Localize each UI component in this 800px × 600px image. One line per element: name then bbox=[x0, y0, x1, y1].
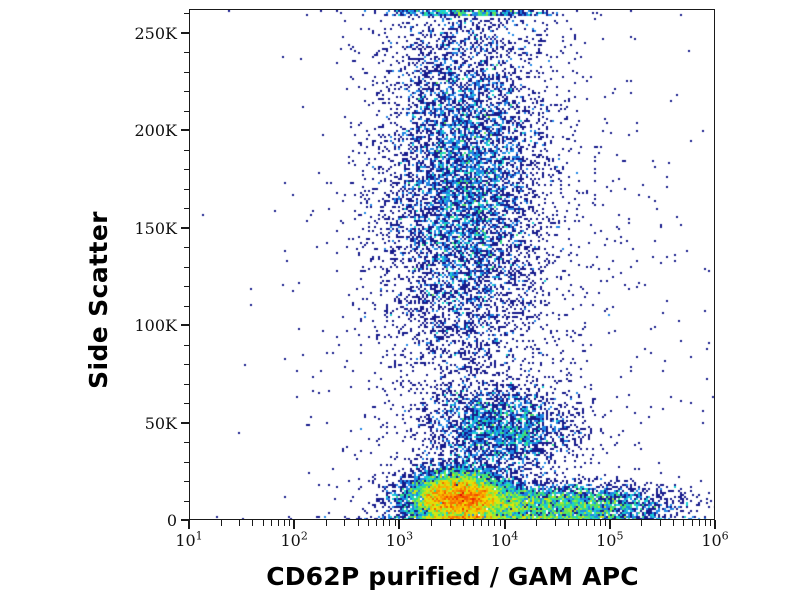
x-tick-minor bbox=[500, 520, 501, 526]
x-tick-minor bbox=[692, 520, 693, 526]
x-tick-minor bbox=[326, 520, 327, 526]
x-tick-major bbox=[188, 520, 190, 529]
x-tick-minor bbox=[488, 520, 489, 526]
x-tick-minor bbox=[578, 520, 579, 526]
x-tick-label: 105 bbox=[580, 531, 640, 550]
x-tick-minor bbox=[221, 520, 222, 526]
x-tick-label: 102 bbox=[264, 531, 324, 550]
x-tick-minor bbox=[252, 520, 253, 526]
x-tick-label: 101 bbox=[159, 531, 219, 550]
x-tick-minor bbox=[710, 520, 711, 526]
x-tick-minor bbox=[395, 520, 396, 526]
plot-area[interactable] bbox=[189, 9, 715, 520]
y-tick-label: 200K bbox=[117, 121, 177, 140]
x-tick-minor bbox=[660, 520, 661, 526]
x-tick-label: 104 bbox=[475, 531, 535, 550]
x-tick-minor bbox=[278, 520, 279, 526]
x-tick-minor bbox=[673, 520, 674, 526]
x-tick-major bbox=[293, 520, 295, 529]
x-tick-minor bbox=[289, 520, 290, 526]
x-tick-minor bbox=[605, 520, 606, 526]
x-tick-label: 103 bbox=[369, 531, 429, 550]
x-tick-minor bbox=[568, 520, 569, 526]
x-tick-minor bbox=[368, 520, 369, 526]
x-tick-major bbox=[504, 520, 506, 529]
x-tick-minor bbox=[376, 520, 377, 526]
flow-cytometry-figure: Side Scatter 050K100K150K200K250K 101102… bbox=[0, 0, 800, 600]
y-tick-label: 0 bbox=[117, 511, 177, 530]
x-tick-minor bbox=[463, 520, 464, 526]
x-tick-minor bbox=[555, 520, 556, 526]
y-axis-title: Side Scatter bbox=[78, 0, 118, 600]
x-tick-minor bbox=[389, 520, 390, 526]
x-tick-label: 106 bbox=[685, 531, 745, 550]
y-tick-label: 100K bbox=[117, 316, 177, 335]
x-tick-major bbox=[398, 520, 400, 529]
y-tick-label: 150K bbox=[117, 219, 177, 238]
x-tick-minor bbox=[358, 520, 359, 526]
x-tick-minor bbox=[271, 520, 272, 526]
x-tick-minor bbox=[683, 520, 684, 526]
y-tick-label: 50K bbox=[117, 414, 177, 433]
x-tick-minor bbox=[344, 520, 345, 526]
x-tick-minor bbox=[473, 520, 474, 526]
x-tick-minor bbox=[383, 520, 384, 526]
x-tick-minor bbox=[450, 520, 451, 526]
y-tick-label: 250K bbox=[117, 24, 177, 43]
x-tick-minor bbox=[239, 520, 240, 526]
x-tick-minor bbox=[284, 520, 285, 526]
x-tick-minor bbox=[536, 520, 537, 526]
x-tick-minor bbox=[705, 520, 706, 526]
x-tick-minor bbox=[263, 520, 264, 526]
x-tick-minor bbox=[586, 520, 587, 526]
x-tick-minor bbox=[699, 520, 700, 526]
x-tick-major bbox=[714, 520, 716, 529]
x-tick-minor bbox=[431, 520, 432, 526]
x-tick-minor bbox=[594, 520, 595, 526]
x-tick-minor bbox=[641, 520, 642, 526]
x-axis-title: CD62P purified / GAM APC bbox=[189, 562, 716, 591]
scatter-density-canvas bbox=[190, 10, 715, 520]
x-tick-minor bbox=[600, 520, 601, 526]
x-tick-minor bbox=[494, 520, 495, 526]
x-tick-minor bbox=[481, 520, 482, 526]
x-tick-major bbox=[609, 520, 611, 529]
